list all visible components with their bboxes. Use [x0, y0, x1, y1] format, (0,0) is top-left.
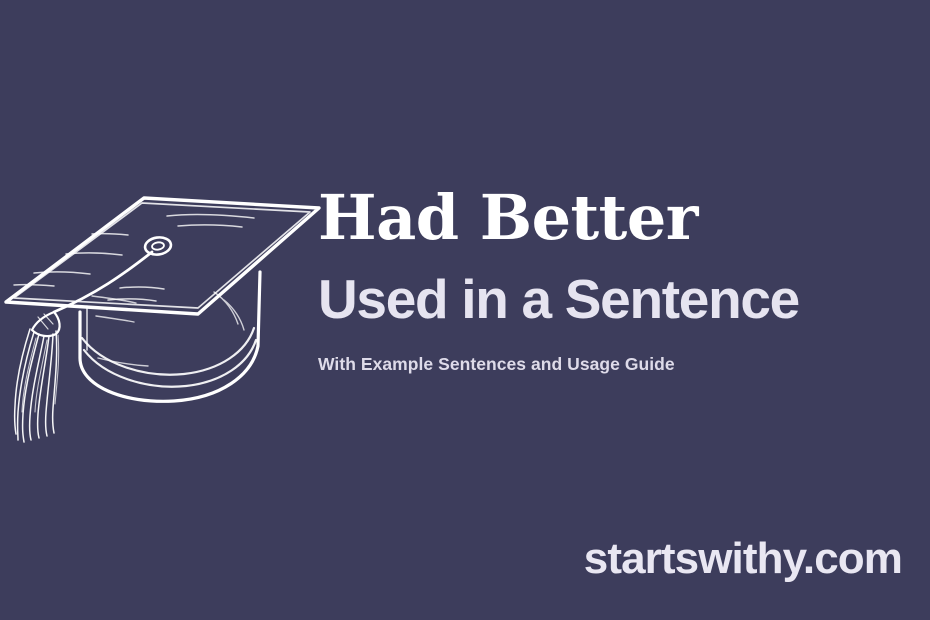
headline-block: Had Better Used in a Sentence With Examp… [318, 186, 918, 375]
tassel-strands-secondary-icon [22, 335, 59, 412]
poster-canvas: Had Better Used in a Sentence With Examp… [0, 0, 930, 620]
cap-base-contours-icon [82, 328, 256, 387]
tassel-knot-icon [32, 312, 60, 336]
page-title-primary: Had Better [318, 186, 918, 249]
page-title-secondary: Used in a Sentence [318, 271, 918, 328]
page-tagline: With Example Sentences and Usage Guide [318, 354, 918, 375]
mortarboard-hatching-icon [14, 215, 254, 301]
brand-wordmark: startswithy.com [584, 534, 902, 584]
graduation-cap-icon [0, 172, 322, 462]
cap-base-icon [80, 272, 260, 401]
cap-base-hatching-icon [92, 292, 244, 366]
cap-button-icon [144, 236, 172, 256]
tassel-cord-icon [54, 252, 152, 312]
mortarboard-top-icon [6, 198, 319, 314]
tassel-strands-icon [15, 329, 57, 442]
